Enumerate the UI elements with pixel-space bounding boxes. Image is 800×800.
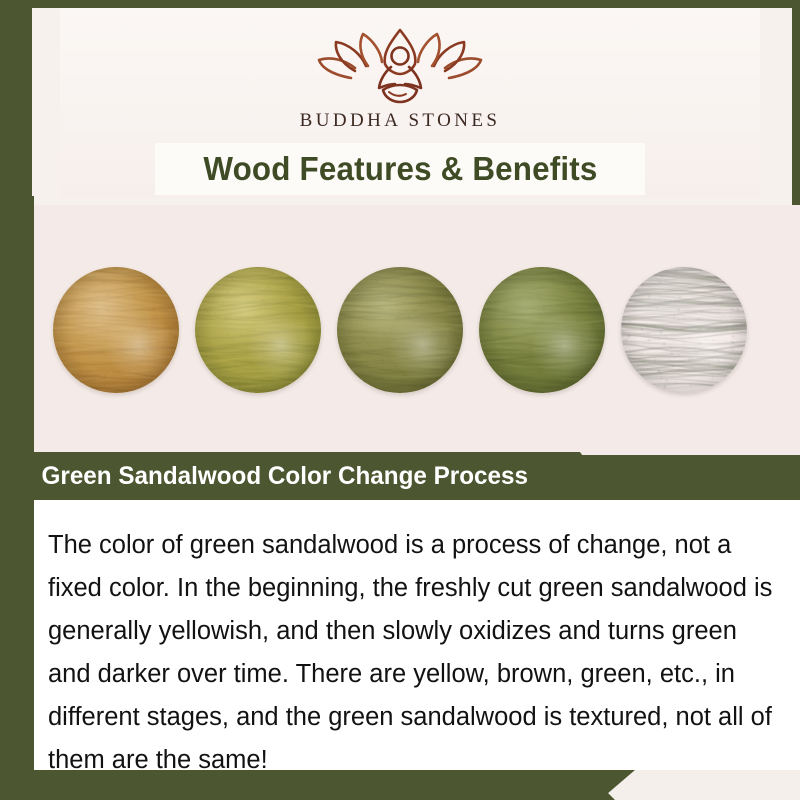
section-banner: Green Sandalwood Color Change Process xyxy=(0,452,615,500)
infographic-canvas: BUDDHA STONES Wood Features & Benefits G… xyxy=(0,0,800,800)
page-title: Wood Features & Benefits xyxy=(203,150,597,188)
lotus-meditation-figure-icon xyxy=(311,22,489,106)
brand-logo: BUDDHA STONES xyxy=(0,22,800,142)
bead-stage-1 xyxy=(53,267,179,393)
page-title-box: Wood Features & Benefits xyxy=(155,143,645,195)
bead-stage-3 xyxy=(337,267,463,393)
bead-stage-4 xyxy=(479,267,605,393)
left-frame-bar xyxy=(0,196,34,784)
bead-stage-2 xyxy=(195,267,321,393)
body-paragraph: The color of green sandalwood is a proce… xyxy=(48,524,778,782)
bead-color-stages xyxy=(0,250,800,410)
brand-name: BUDDHA STONES xyxy=(300,110,501,132)
section-banner-title: Green Sandalwood Color Change Process xyxy=(42,462,528,491)
bead-stage-5 xyxy=(621,267,747,393)
body-panel: The color of green sandalwood is a proce… xyxy=(34,500,800,770)
